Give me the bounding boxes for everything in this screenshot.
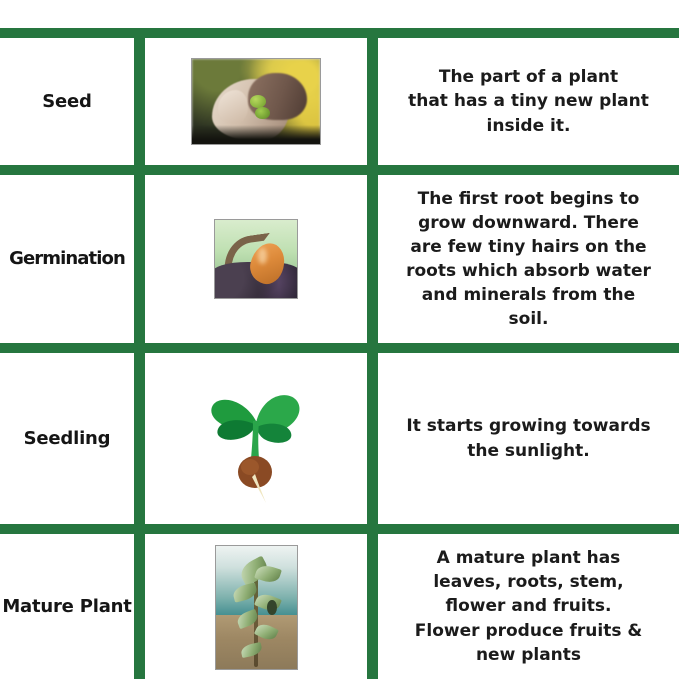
plant-life-cycle-table: Seed The part of a plant that has a tiny… xyxy=(0,0,679,679)
stage-description-seed: The part of a plant that has a tiny new … xyxy=(408,65,649,137)
stage-image-cell-mature-plant xyxy=(145,534,367,679)
table-row: Seed The part of a plant that has a tiny… xyxy=(0,38,679,165)
table-row: Germination The first root begins to gro… xyxy=(0,175,679,343)
seed-photo-thumb xyxy=(218,90,249,124)
stage-image-cell-seedling xyxy=(145,353,367,524)
mature-plant-photo xyxy=(215,545,298,670)
stage-image-cell-germination xyxy=(145,175,367,343)
stage-description-mature-plant: A mature plant has leaves, roots, stem, … xyxy=(415,546,642,667)
table-row: Mature Plant A mature plant has leaves, … xyxy=(0,534,679,679)
stage-label-seedling: Seedling xyxy=(24,427,111,450)
table-divider-row3-row4 xyxy=(0,524,679,534)
stage-description-germination: The first root begins to grow downward. … xyxy=(406,187,651,332)
seedling-seed-highlight xyxy=(241,459,259,475)
mature-plant-photo-bud xyxy=(267,600,277,615)
seedling-illustration xyxy=(196,373,316,505)
stage-image-cell-seed xyxy=(145,38,367,165)
stage-description-cell-mature-plant: A mature plant has leaves, roots, stem, … xyxy=(378,534,679,679)
stage-label-cell-seedling: Seedling xyxy=(0,353,134,524)
stage-label-seed: Seed xyxy=(42,90,91,113)
seed-photo xyxy=(191,58,321,145)
seed-photo-shadow xyxy=(192,125,320,144)
table-divider-row1-row2 xyxy=(0,165,679,175)
table-divider-top xyxy=(0,28,679,38)
stage-description-cell-seedling: It starts growing towards the sunlight. xyxy=(378,353,679,524)
stage-description-cell-seed: The part of a plant that has a tiny new … xyxy=(378,38,679,165)
table-row: Seedling It starts growing towards the s… xyxy=(0,353,679,524)
table-divider-row2-row3 xyxy=(0,343,679,353)
stage-description-seedling: It starts growing towards the sunlight. xyxy=(406,414,650,462)
stage-label-germination: Germination xyxy=(9,247,125,270)
stage-description-cell-germination: The first root begins to grow downward. … xyxy=(378,175,679,343)
stage-label-mature-plant: Mature Plant xyxy=(2,595,131,618)
stage-label-cell-germination: Germination xyxy=(0,175,134,343)
stage-label-cell-seed: Seed xyxy=(0,38,134,165)
germination-photo xyxy=(214,219,298,299)
germination-photo-highlight xyxy=(258,248,268,264)
stage-label-cell-mature-plant: Mature Plant xyxy=(0,534,134,679)
